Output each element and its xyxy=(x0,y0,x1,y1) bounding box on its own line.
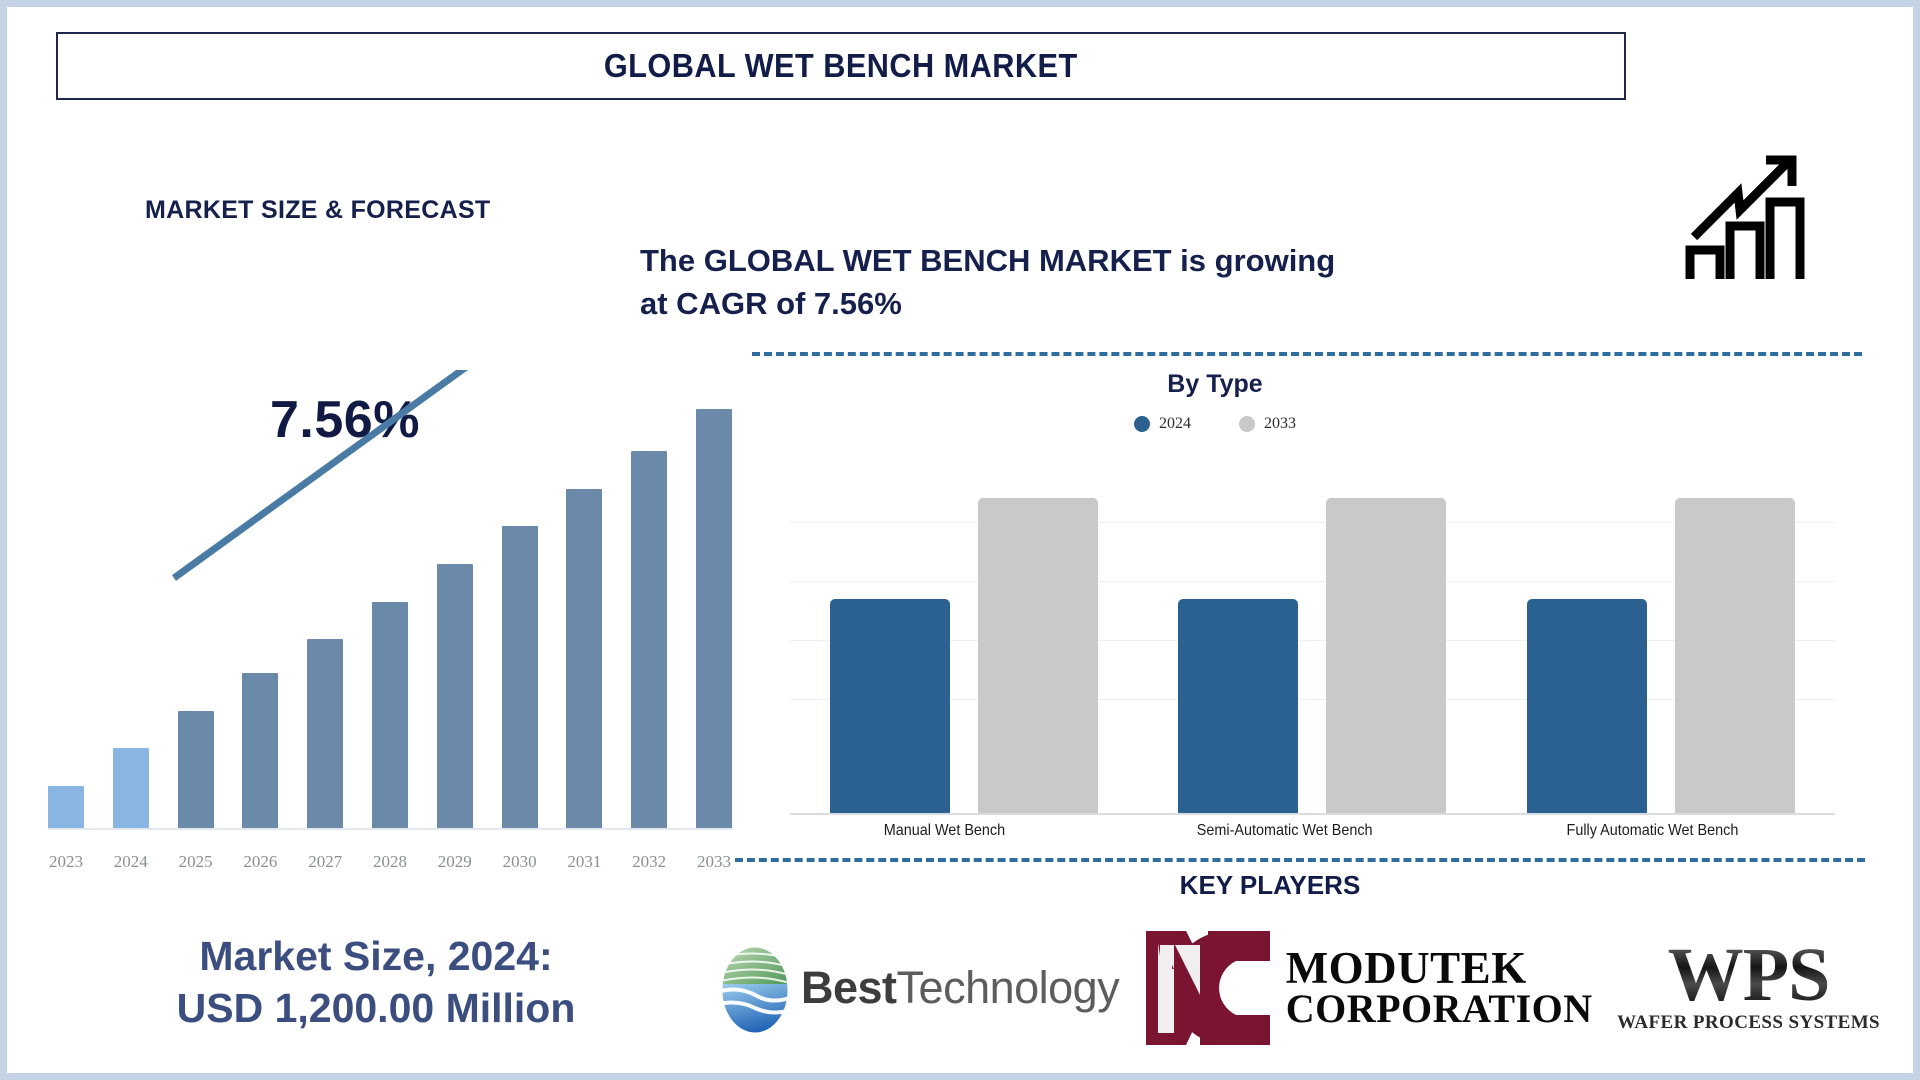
by-type-category-label: Manual Wet Bench xyxy=(884,822,1005,840)
best-technology-mark-icon xyxy=(715,940,795,1035)
modutek-mc-monogram-icon xyxy=(1144,929,1272,1047)
left-chart-x-label: 2027 xyxy=(307,852,343,872)
by-type-bar xyxy=(1675,498,1795,815)
left-chart-bar xyxy=(437,564,473,828)
wps-tagline: WAFER PROCESS SYSTEMS xyxy=(1617,1012,1880,1034)
by-type-category-label: Fully Automatic Wet Bench xyxy=(1566,822,1738,840)
page-title: GLOBAL WET BENCH MARKET xyxy=(604,47,1078,85)
left-chart-x-label: 2032 xyxy=(631,852,667,872)
legend-color-swatch xyxy=(1134,416,1150,432)
left-chart-bar xyxy=(48,786,84,828)
left-chart-bar xyxy=(113,748,149,828)
best-technology-light: Technology xyxy=(897,962,1120,1013)
left-chart-x-label: 2029 xyxy=(437,852,473,872)
by-type-bar-groups xyxy=(790,455,1835,815)
best-technology-bold: Best xyxy=(801,962,897,1013)
cagr-headline-line2: at CAGR of 7.56% xyxy=(640,283,1680,326)
market-size-callout: Market Size, 2024: USD 1,200.00 Million xyxy=(96,930,656,1034)
legend-label: 2024 xyxy=(1159,415,1191,433)
left-chart-bar xyxy=(696,409,732,828)
modutek-line1: MODUTEK xyxy=(1286,947,1593,990)
left-chart-bar xyxy=(372,602,408,828)
left-chart-bar xyxy=(631,451,667,828)
left-chart-bar xyxy=(178,711,214,828)
left-chart-x-axis-labels: 2023202420252026202720282029203020312032… xyxy=(48,852,732,872)
logo-best-technology: BestTechnology xyxy=(715,940,1119,1035)
cagr-headline-line1: The GLOBAL WET BENCH MARKET is growing xyxy=(640,240,1680,283)
by-type-bar xyxy=(978,498,1098,815)
left-chart-x-label: 2028 xyxy=(372,852,408,872)
left-chart-x-label: 2023 xyxy=(48,852,84,872)
logo-wafer-process-systems: WPS WAFER PROCESS SYSTEMS xyxy=(1617,941,1880,1035)
left-chart-bar xyxy=(242,673,278,828)
left-chart-x-label: 2030 xyxy=(502,852,538,872)
by-type-title: By Type xyxy=(1055,370,1375,399)
by-type-category-label: Semi-Automatic Wet Bench xyxy=(1197,822,1373,840)
section-label-market-size-forecast: MARKET SIZE & FORECAST xyxy=(145,196,491,225)
by-type-chart xyxy=(790,455,1835,815)
by-type-bar xyxy=(830,599,950,815)
legend-label: 2033 xyxy=(1264,415,1296,433)
market-size-forecast-chart: 7.56% 2023202420252026202720282029203020… xyxy=(22,370,740,890)
by-type-baseline xyxy=(790,813,1835,815)
growth-chart-arrow-icon xyxy=(1680,138,1820,280)
left-chart-x-label: 2033 xyxy=(696,852,732,872)
divider-top xyxy=(752,352,1862,356)
legend-item: 2024 xyxy=(1134,415,1191,433)
left-chart-bar xyxy=(307,639,343,828)
by-type-bar-group xyxy=(1178,498,1446,815)
left-chart-bar xyxy=(502,526,538,828)
by-type-bar xyxy=(1178,599,1298,815)
key-players-logos: BestTechnology MODUTEK CORPORATION WPS W… xyxy=(715,925,1880,1050)
market-size-line1: Market Size, 2024: xyxy=(96,930,656,982)
left-chart-bars xyxy=(48,388,732,828)
by-type-legend: 20242033 xyxy=(1055,415,1375,433)
best-technology-wordmark: BestTechnology xyxy=(801,962,1119,1014)
market-size-line2: USD 1,200.00 Million xyxy=(96,982,656,1034)
left-chart-x-label: 2026 xyxy=(242,852,278,872)
left-chart-x-label: 2025 xyxy=(178,852,214,872)
page-title-box: GLOBAL WET BENCH MARKET xyxy=(56,32,1626,100)
modutek-wordmark: MODUTEK CORPORATION xyxy=(1286,947,1593,1028)
by-type-category-labels: Manual Wet BenchSemi-Automatic Wet Bench… xyxy=(790,822,1835,840)
key-players-title: KEY PLAYERS xyxy=(1000,870,1540,901)
by-type-bar-group xyxy=(830,498,1098,815)
left-chart-bar xyxy=(566,489,602,828)
left-chart-x-label: 2031 xyxy=(566,852,602,872)
by-type-bar-group xyxy=(1527,498,1795,815)
by-type-bar xyxy=(1527,599,1647,815)
by-type-bar xyxy=(1326,498,1446,815)
cagr-headline: The GLOBAL WET BENCH MARKET is growing a… xyxy=(640,240,1680,326)
divider-middle xyxy=(735,858,1865,862)
logo-modutek-corporation: MODUTEK CORPORATION xyxy=(1144,929,1593,1047)
left-chart-x-label: 2024 xyxy=(113,852,149,872)
legend-color-swatch xyxy=(1239,416,1255,432)
modutek-line2: CORPORATION xyxy=(1286,990,1593,1028)
wps-wordmark: WPS xyxy=(1617,941,1880,1011)
left-chart-axis xyxy=(48,828,732,830)
legend-item: 2033 xyxy=(1239,415,1296,433)
